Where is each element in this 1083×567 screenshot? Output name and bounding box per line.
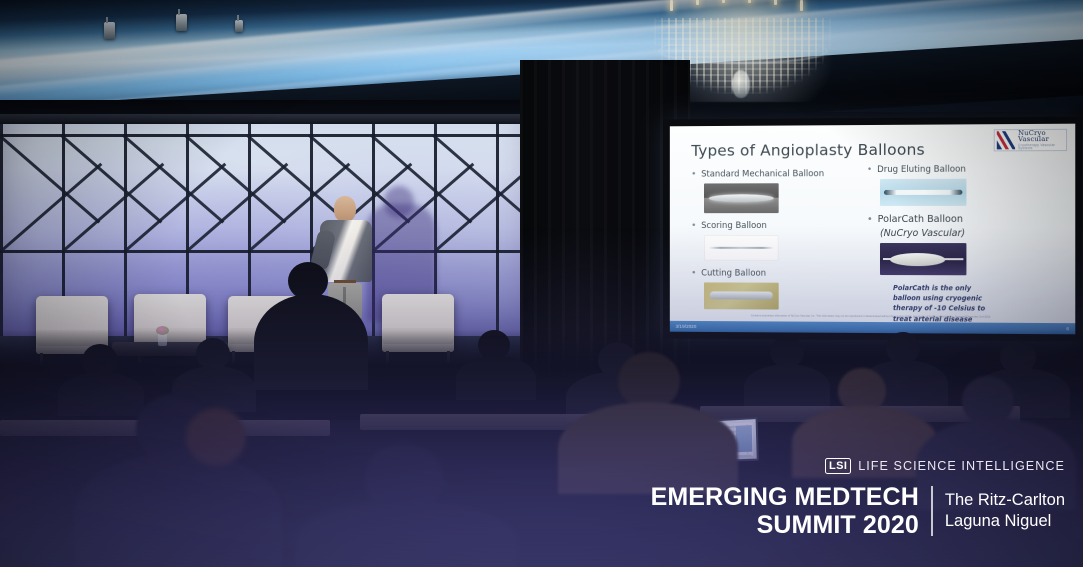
bullet-cutting-balloon: Cutting Balloon — [691, 269, 864, 279]
slide-right-column: Drug Eluting Balloon PolarCath Balloon (… — [867, 164, 1054, 325]
venue-line2: Laguna Niguel — [945, 511, 1065, 532]
audience-shoulders — [744, 364, 830, 410]
polarcath-sublabel: (NuCryo Vascular) — [880, 228, 1054, 239]
logo-tagline: Cryotherapy Vascular Systems — [1018, 144, 1064, 151]
lsi-badge-icon: LSI — [825, 458, 851, 474]
polarcath-balloon-image — [880, 243, 966, 275]
drug-eluting-balloon-image — [880, 179, 966, 206]
bullet-standard-mechanical-balloon: Standard Mechanical Balloon — [691, 169, 864, 180]
lsi-company-name: LIFE SCIENCE INTELLIGENCE — [858, 459, 1065, 473]
presentation-slide: NuCryo Vascular Cryotherapy Vascular Sys… — [670, 124, 1075, 335]
stage-truss — [0, 114, 537, 124]
audience-shoulders — [254, 294, 368, 390]
ceiling-speaker-icon — [104, 22, 115, 39]
ceiling-speaker-icon — [176, 14, 187, 31]
bullet-scoring-balloon: Scoring Balloon — [691, 221, 864, 231]
event-brand-lockup: LSI LIFE SCIENCE INTELLIGENCE EMERGING M… — [651, 458, 1065, 539]
bullet-polarcath-balloon: PolarCath Balloon — [867, 214, 1054, 225]
slide-title: Types of Angioplasty Balloons — [691, 141, 925, 160]
cutting-balloon-image — [704, 282, 779, 309]
nucryo-vascular-logo-icon: NuCryo Vascular Cryotherapy Vascular Sys… — [994, 129, 1067, 152]
lockup-divider — [931, 486, 933, 536]
audience-head-foreground — [186, 408, 246, 466]
slide-left-column: Standard Mechanical Balloon Scoring Ball… — [691, 169, 864, 318]
projection-screen: NuCryo Vascular Cryotherapy Vascular Sys… — [663, 117, 1082, 342]
slide-date: 3/19/2020 — [676, 324, 697, 329]
audience-shoulders — [456, 356, 536, 400]
ceiling-speaker-icon — [235, 20, 243, 32]
event-title-line2: SUMMIT 2020 — [651, 511, 919, 539]
venue-line1: The Ritz-Carlton — [945, 490, 1065, 511]
event-title-lockup: EMERGING MEDTECH SUMMIT 2020 The Ritz-Ca… — [651, 483, 1065, 539]
lsi-logo-line: LSI LIFE SCIENCE INTELLIGENCE — [651, 458, 1065, 474]
audience-shoulders — [58, 372, 144, 416]
standard-mechanical-balloon-image — [704, 183, 779, 213]
scoring-balloon-image — [704, 235, 779, 261]
conference-photo-scene: NuCryo Vascular Cryotherapy Vascular Sys… — [0, 0, 1083, 567]
logo-line2: Vascular — [1018, 136, 1064, 143]
event-title-line1: EMERGING MEDTECH — [651, 483, 919, 511]
logo-mark-icon — [997, 131, 1015, 149]
audience-shoulders-foreground — [296, 500, 518, 567]
bullet-drug-eluting-balloon: Drug Eluting Balloon — [867, 164, 1054, 175]
presenter-head — [334, 196, 356, 222]
audience-shoulders-foreground — [74, 452, 282, 567]
